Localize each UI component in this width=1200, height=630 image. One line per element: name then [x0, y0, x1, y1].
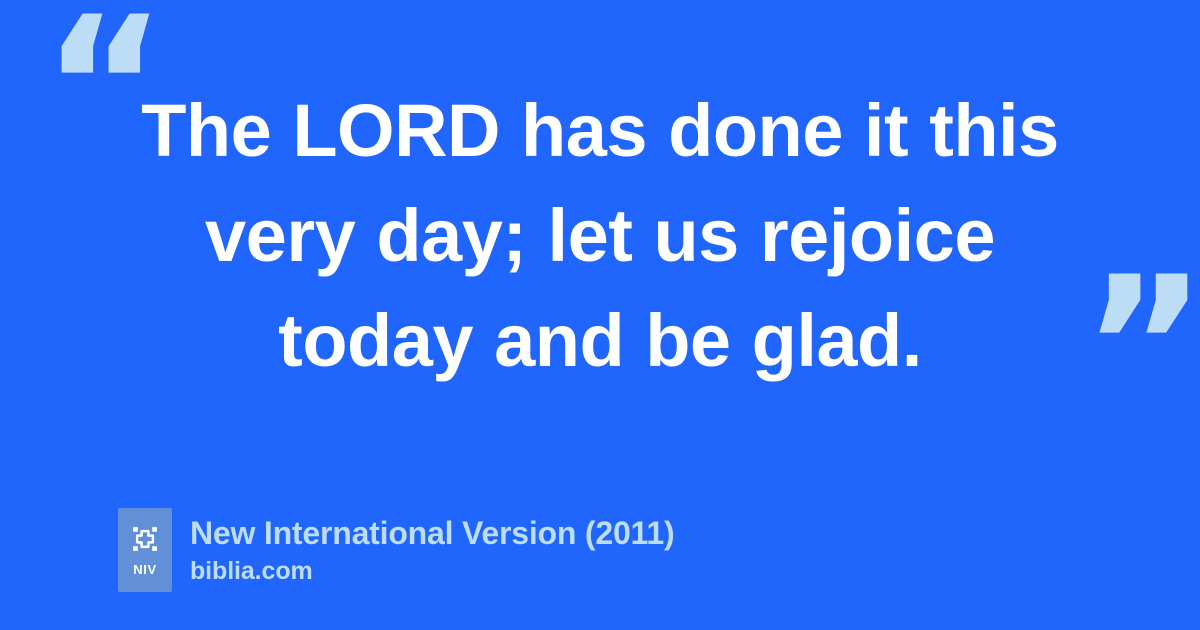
close-quote-icon: ” [1082, 252, 1200, 442]
niv-logo: NIV [118, 508, 172, 592]
attribution: NIV New International Version (2011) bib… [118, 508, 674, 592]
attribution-text: New International Version (2011) biblia.… [190, 508, 674, 586]
quote-block: The LORD has done it this very day; let … [0, 78, 1200, 393]
verse-card: “ The LORD has done it this very day; le… [0, 0, 1200, 630]
transform-cross-icon [130, 524, 160, 554]
bible-version-name: New International Version (2011) [190, 514, 674, 552]
niv-abbreviation: NIV [133, 563, 156, 576]
site-url: biblia.com [190, 556, 674, 586]
quote-text: The LORD has done it this very day; let … [96, 78, 1104, 393]
